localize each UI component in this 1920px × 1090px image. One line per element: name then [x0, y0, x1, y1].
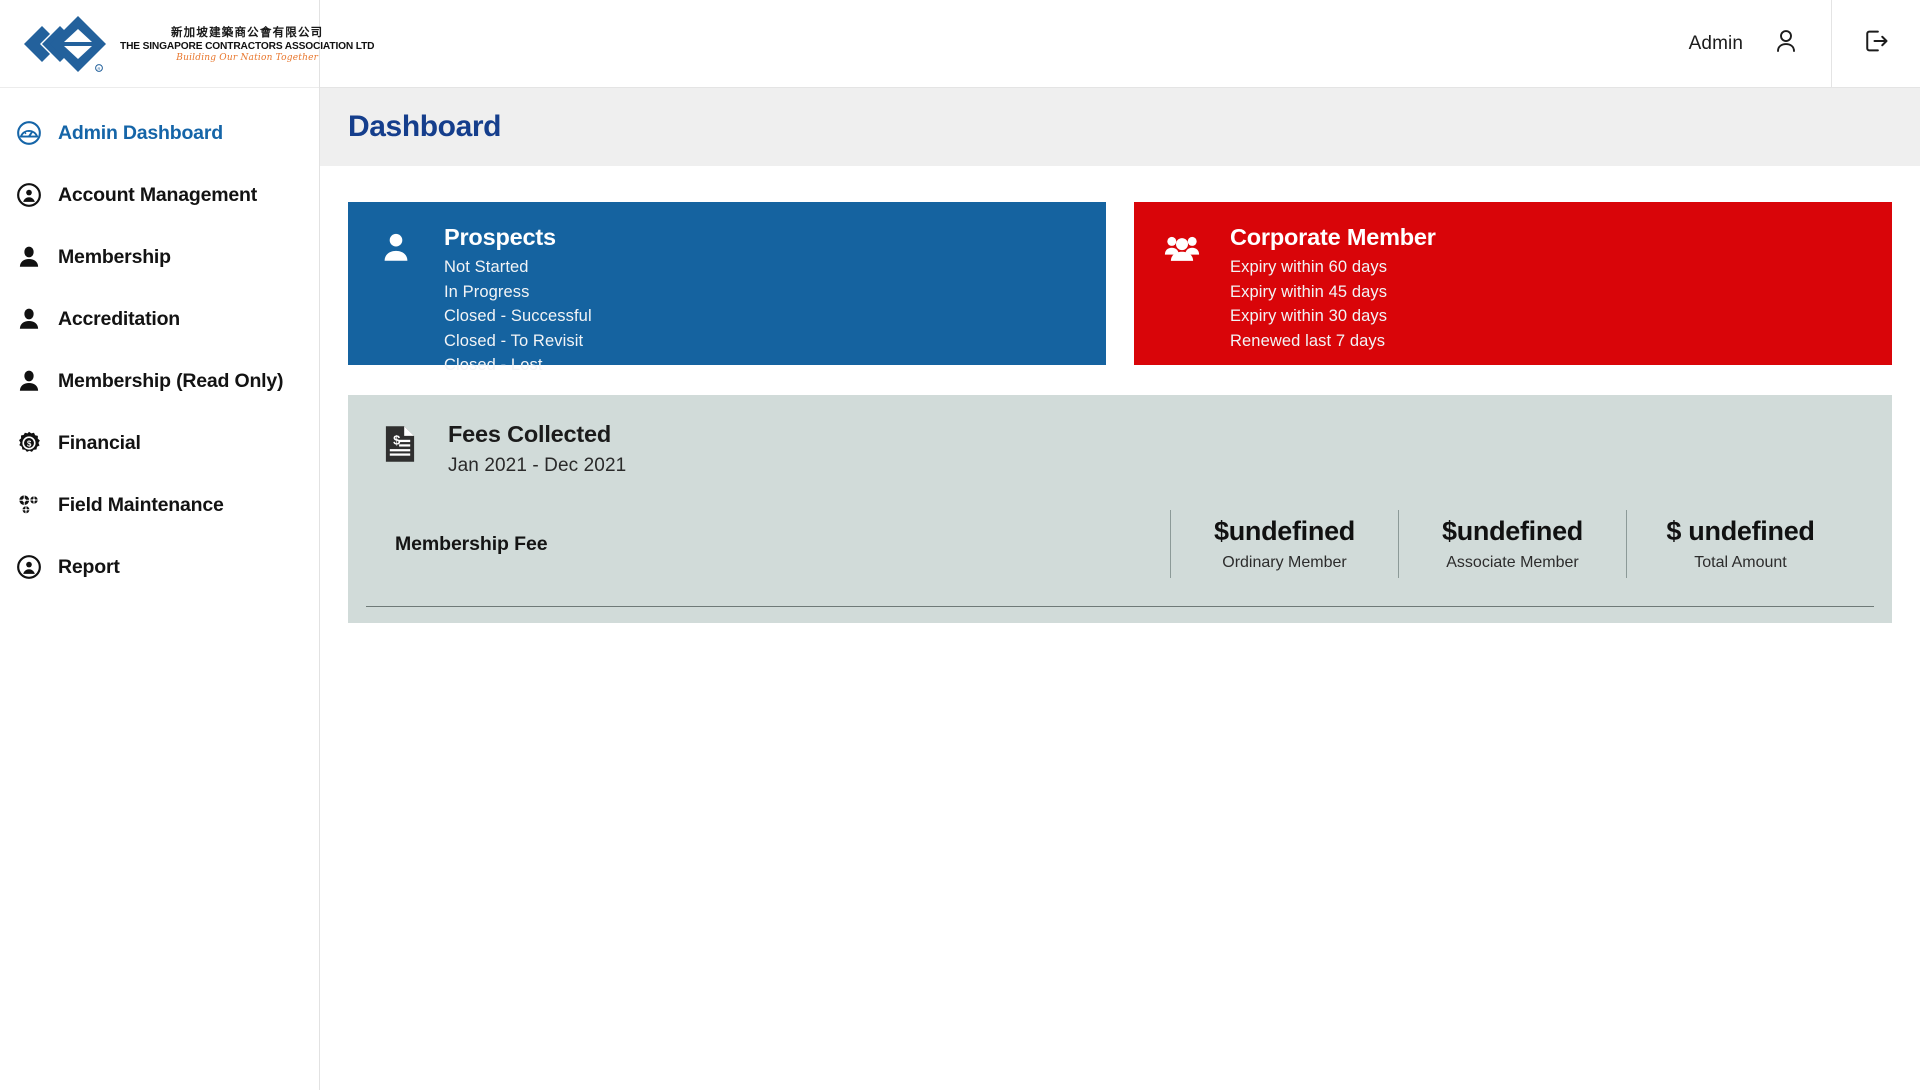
- sidebar-item-label: Financial: [58, 432, 141, 455]
- user-name-label: Admin: [1689, 33, 1743, 55]
- scal-diamond-logo-icon: R: [20, 13, 106, 75]
- prospects-card-body: Prospects Not Started In Progress Closed…: [444, 224, 592, 365]
- user-solid-icon: [16, 368, 42, 394]
- prospects-status-line[interactable]: Closed - Successful: [444, 304, 592, 329]
- sidebar-item-label: Admin Dashboard: [58, 122, 223, 145]
- stat-cards-row: Prospects Not Started In Progress Closed…: [348, 202, 1892, 365]
- sidebar-item-field-maintenance[interactable]: Field Maintenance: [0, 474, 319, 536]
- user-solid-icon: [16, 306, 42, 332]
- gear-dollar-icon: $: [16, 430, 42, 456]
- logout-icon: [1861, 26, 1891, 61]
- fees-amount: $undefined: [1171, 516, 1398, 547]
- sidebar: R 新加坡建築商公會有限公司 THE SINGAPORE CONTRACTORS…: [0, 0, 320, 1090]
- sidebar-item-accreditation[interactable]: Accreditation: [0, 288, 319, 350]
- sidebar-nav: Admin Dashboard Account Management: [0, 88, 319, 598]
- brand-chinese-name: 新加坡建築商公會有限公司: [171, 24, 323, 40]
- page-title: Dashboard: [348, 110, 501, 144]
- corporate-member-status-line[interactable]: Expiry within 60 days: [1230, 255, 1436, 280]
- user-circle-icon: [16, 182, 42, 208]
- fees-amount: $undefined: [1399, 516, 1626, 547]
- fees-panel-period: Jan 2021 - Dec 2021: [448, 455, 626, 477]
- fees-column-total-amount: $ undefined Total Amount: [1626, 510, 1854, 578]
- sidebar-item-financial[interactable]: $ Financial: [0, 412, 319, 474]
- main-area: Admin Dash: [320, 0, 1920, 1090]
- sidebar-item-label: Membership (Read Only): [58, 370, 283, 393]
- multi-gear-icon: [16, 492, 42, 518]
- fees-caption: Total Amount: [1627, 554, 1854, 572]
- sidebar-item-label: Membership: [58, 246, 171, 269]
- sidebar-item-membership-read-only[interactable]: Membership (Read Only): [0, 350, 319, 412]
- corporate-member-card-title: Corporate Member: [1230, 224, 1436, 251]
- logout-button[interactable]: [1832, 0, 1920, 88]
- fees-summary-row: Membership Fee $undefined Ordinary Membe…: [382, 510, 1892, 578]
- fees-panel-header: $ Fees Collected Jan 2021 - Dec 2021: [382, 421, 1892, 477]
- invoice-dollar-icon: $: [382, 421, 422, 469]
- sidebar-item-membership[interactable]: Membership: [0, 226, 319, 288]
- brand-tagline: Building Our Nation Together: [176, 53, 318, 63]
- brand-logo-text: 新加坡建築商公會有限公司 THE SINGAPORE CONTRACTORS A…: [120, 24, 374, 63]
- fees-collected-panel: $ Fees Collected Jan 2021 - Dec 2021: [348, 395, 1892, 623]
- prospects-status-line[interactable]: Closed - To Revisit: [444, 329, 592, 354]
- prospects-card[interactable]: Prospects Not Started In Progress Closed…: [348, 202, 1106, 365]
- svg-text:R: R: [98, 66, 101, 71]
- fees-column-associate-member: $undefined Associate Member: [1398, 510, 1626, 578]
- sidebar-item-account-management[interactable]: Account Management: [0, 164, 319, 226]
- brand-english-name: THE SINGAPORE CONTRACTORS ASSOCIATION LT…: [120, 41, 374, 52]
- corporate-member-status-line[interactable]: Expiry within 30 days: [1230, 304, 1436, 329]
- sidebar-item-label: Report: [58, 556, 120, 579]
- prospects-status-line[interactable]: Closed - Lost: [444, 353, 592, 378]
- prospects-status-line[interactable]: Not Started: [444, 255, 592, 280]
- topbar: Admin: [320, 0, 1920, 88]
- corporate-member-status-line[interactable]: Renewed last 7 days: [1230, 329, 1436, 354]
- fees-panel-divider: [366, 606, 1874, 607]
- sidebar-item-label: Account Management: [58, 184, 257, 207]
- user-menu[interactable]: Admin: [1689, 26, 1831, 61]
- fees-column-ordinary-member: $undefined Ordinary Member: [1170, 510, 1398, 578]
- fees-panel-titles: Fees Collected Jan 2021 - Dec 2021: [448, 421, 626, 477]
- speedometer-icon: [16, 120, 42, 146]
- fees-panel-title: Fees Collected: [448, 421, 626, 448]
- sidebar-item-admin-dashboard[interactable]: Admin Dashboard: [0, 102, 319, 164]
- dashboard-content: Prospects Not Started In Progress Closed…: [320, 166, 1920, 1090]
- fees-caption: Ordinary Member: [1171, 554, 1398, 572]
- person-icon: [378, 224, 418, 365]
- user-solid-icon: [16, 244, 42, 270]
- fees-amount: $ undefined: [1627, 516, 1854, 547]
- sidebar-item-label: Field Maintenance: [58, 494, 224, 517]
- fees-row-label: Membership Fee: [382, 533, 1170, 556]
- fees-caption: Associate Member: [1399, 554, 1626, 572]
- page-header: Dashboard: [320, 88, 1920, 166]
- user-circle-icon[interactable]: [1771, 26, 1801, 61]
- user-circle-icon: [16, 554, 42, 580]
- corporate-member-card[interactable]: Corporate Member Expiry within 60 days E…: [1134, 202, 1892, 365]
- corporate-member-card-body: Corporate Member Expiry within 60 days E…: [1230, 224, 1436, 365]
- sidebar-item-label: Accreditation: [58, 308, 180, 331]
- brand-logo[interactable]: R 新加坡建築商公會有限公司 THE SINGAPORE CONTRACTORS…: [0, 0, 319, 88]
- corporate-member-status-line[interactable]: Expiry within 45 days: [1230, 280, 1436, 305]
- prospects-card-title: Prospects: [444, 224, 592, 251]
- prospects-status-line[interactable]: In Progress: [444, 280, 592, 305]
- people-group-icon: [1164, 224, 1204, 365]
- sidebar-item-report[interactable]: Report: [0, 536, 319, 598]
- app-root: R 新加坡建築商公會有限公司 THE SINGAPORE CONTRACTORS…: [0, 0, 1920, 1090]
